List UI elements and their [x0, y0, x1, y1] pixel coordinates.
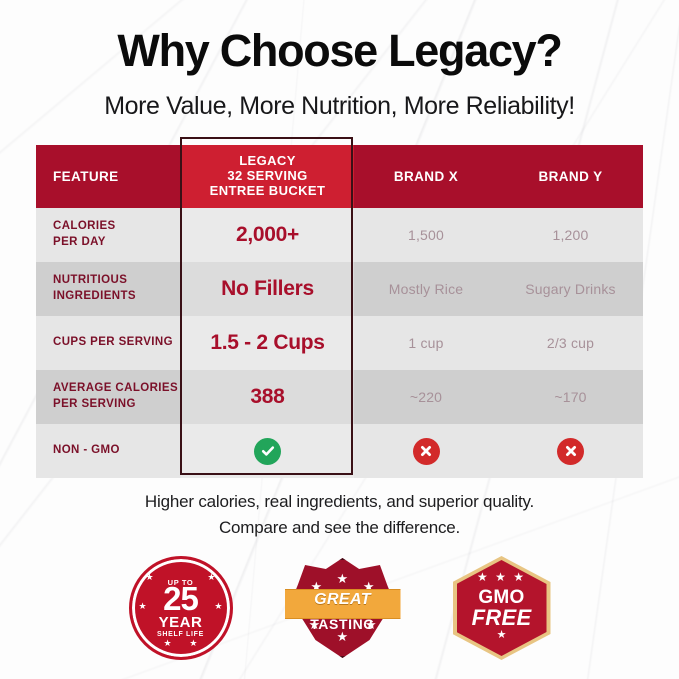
table-row: NUTRITIOUS INGREDIENTS No Fillers Mostly… — [36, 262, 643, 316]
brand-x-value: Mostly Rice — [389, 281, 464, 297]
seal-star-icon: ★ — [164, 639, 172, 648]
row-feature-label: CALORIES PER DAY — [36, 208, 181, 262]
cell-brand-y: ~170 — [498, 370, 643, 424]
footer-line-1: Higher calories, real ingredients, and s… — [0, 489, 679, 515]
cell-legacy: 388 — [181, 370, 354, 424]
brand-x-value: 1,500 — [408, 227, 444, 243]
brand-y-value: 1,200 — [552, 227, 588, 243]
cell-brand-y: 2/3 cup — [498, 316, 643, 370]
feature-label-line1: NUTRITIOUS — [53, 273, 136, 289]
shield-star-icon: ★ — [337, 572, 349, 585]
comparison-table: FEATURE LEGACY 32 SERVING ENTREE BUCKET … — [36, 145, 643, 478]
column-header-legacy-line1: LEGACY — [210, 154, 326, 169]
cell-brand-y — [498, 424, 643, 478]
table-body: CALORIES PER DAY 2,000+ 1,500 1,200 N — [36, 208, 643, 478]
brand-y-value: Sugary Drinks — [525, 281, 616, 297]
table-row: NON - GMO — [36, 424, 643, 478]
row-feature-label: NON - GMO — [36, 424, 181, 478]
shelf-life-sub-text: SHELF LIFE — [157, 631, 204, 638]
legacy-value: 388 — [250, 385, 284, 409]
row-feature-label: AVERAGE CALORIES PER SERVING — [36, 370, 181, 424]
gmo-free-badge: ★ ★ ★ GMO FREE ★ — [453, 556, 551, 660]
brand-x-value: 1 cup — [408, 335, 443, 351]
seal-star-icon: ★ — [207, 573, 215, 582]
column-header-legacy-line3: ENTREE BUCKET — [210, 184, 326, 199]
cell-brand-y: Sugary Drinks — [498, 262, 643, 316]
column-header-brand-x: BRAND X — [354, 145, 498, 208]
great-tasting-line-2: TASTING — [291, 616, 395, 632]
red-x-icon — [413, 438, 440, 465]
cell-brand-x: 1,500 — [354, 208, 498, 262]
shelf-life-number: 25 — [163, 584, 198, 614]
brand-x-value: ~220 — [410, 389, 442, 405]
row-feature-label: CUPS PER SERVING — [36, 316, 181, 370]
great-tasting-line-1: GREAT — [291, 591, 395, 609]
shelf-life-seal-icon: ★ ★ ★ ★ ★ ★ UP TO 25 YEAR SHELF LIFE — [129, 556, 233, 660]
cell-brand-x: 1 cup — [354, 316, 498, 370]
page-subtitle: More Value, More Nutrition, More Reliabi… — [0, 92, 679, 121]
cell-brand-x: ~220 — [354, 370, 498, 424]
cell-legacy: 1.5 - 2 Cups — [181, 316, 354, 370]
column-header-feature: FEATURE — [36, 145, 181, 208]
feature-label-line1: NON - GMO — [53, 443, 120, 459]
legacy-value: 1.5 - 2 Cups — [210, 331, 324, 355]
cell-brand-x: Mostly Rice — [354, 262, 498, 316]
brand-y-value: 2/3 cup — [547, 335, 594, 351]
column-header-legacy-line2: 32 SERVING — [210, 169, 326, 184]
badge-row: ★ ★ ★ ★ ★ ★ UP TO 25 YEAR SHELF LIFE ★ ★… — [0, 548, 679, 668]
feature-label-line1: AVERAGE CALORIES — [53, 381, 178, 397]
column-header-legacy: LEGACY 32 SERVING ENTREE BUCKET — [181, 145, 354, 208]
brand-y-value: ~170 — [554, 389, 586, 405]
cell-legacy — [181, 424, 354, 478]
footer-line-2: Compare and see the difference. — [0, 515, 679, 541]
great-tasting-badge: ★ ★ ★ ★ ★ ★ GREAT TASTING — [291, 558, 395, 658]
table-row: CALORIES PER DAY 2,000+ 1,500 1,200 — [36, 208, 643, 262]
table-row: AVERAGE CALORIES PER SERVING 388 ~220 ~1… — [36, 370, 643, 424]
row-feature-label: NUTRITIOUS INGREDIENTS — [36, 262, 181, 316]
feature-label-line2: PER DAY — [53, 235, 116, 251]
page-title: Why Choose Legacy? — [0, 27, 679, 74]
feature-label-line1: CUPS PER SERVING — [53, 335, 173, 351]
table-header-row: FEATURE LEGACY 32 SERVING ENTREE BUCKET … — [36, 145, 643, 208]
cell-brand-y: 1,200 — [498, 208, 643, 262]
shelf-life-unit: YEAR — [159, 615, 203, 630]
seal-star-icon: ★ — [214, 602, 222, 611]
feature-label-line1: CALORIES — [53, 219, 116, 235]
legacy-value: 2,000+ — [236, 223, 299, 247]
seal-star-icon: ★ — [189, 639, 197, 648]
table-row: CUPS PER SERVING 1.5 - 2 Cups 1 cup 2/3 … — [36, 316, 643, 370]
cell-brand-x — [354, 424, 498, 478]
red-x-icon — [557, 438, 584, 465]
footer-copy: Higher calories, real ingredients, and s… — [0, 489, 679, 542]
feature-label-line2: INGREDIENTS — [53, 289, 136, 305]
cell-legacy: 2,000+ — [181, 208, 354, 262]
seal-star-icon: ★ — [139, 602, 147, 611]
25-year-shelf-life-badge: ★ ★ ★ ★ ★ ★ UP TO 25 YEAR SHELF LIFE — [129, 556, 233, 660]
feature-label-line2: PER SERVING — [53, 397, 178, 413]
seal-star-icon: ★ — [146, 573, 154, 582]
legacy-value: No Fillers — [221, 277, 314, 301]
column-header-brand-y: BRAND Y — [498, 145, 643, 208]
infographic-page: Why Choose Legacy? More Value, More Nutr… — [0, 0, 679, 679]
gmo-free-bottom-star-icon: ★ — [453, 628, 551, 641]
green-check-icon — [254, 438, 281, 465]
cell-legacy: No Fillers — [181, 262, 354, 316]
gmo-free-stars-icon: ★ ★ ★ — [453, 570, 551, 584]
